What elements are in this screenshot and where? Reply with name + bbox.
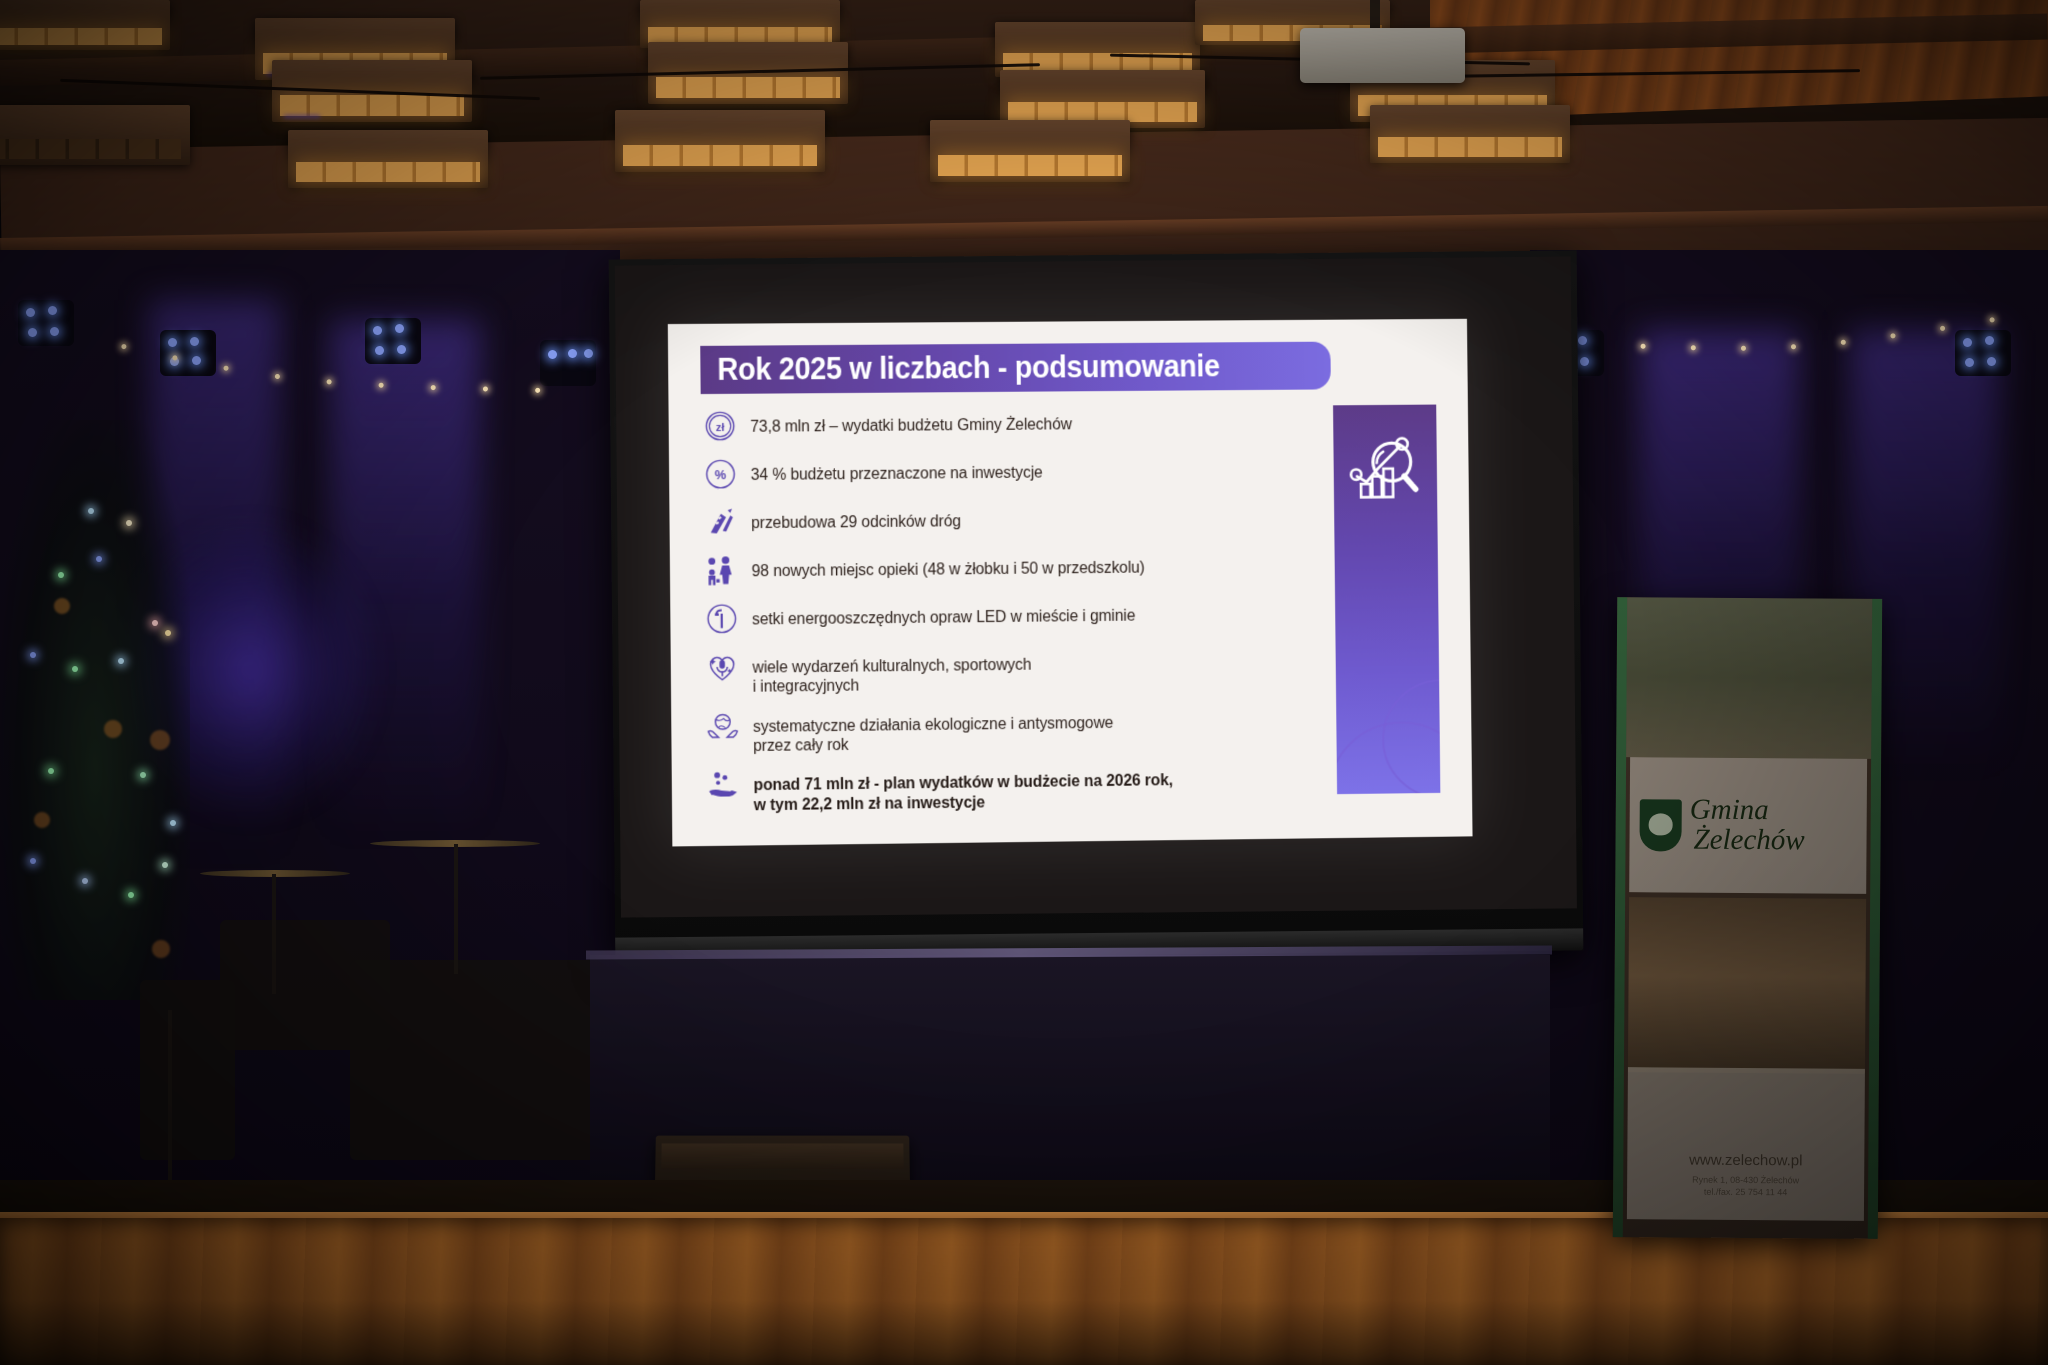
list-item-text: setki energooszczędnych opraw LED w mieś… — [752, 601, 1135, 630]
chart-magnifier-icon — [1347, 431, 1423, 507]
drum-kit — [120, 830, 640, 1160]
auditorium-room: Rok 2025 w liczbach - podsumowanie zł 73… — [0, 0, 2048, 1365]
list-item: systematyczne działania ekologiczne i an… — [705, 705, 1306, 757]
slide-title-bar: Rok 2025 w liczbach - podsumowanie — [700, 342, 1331, 394]
rollup-banner: Gmina Żelechów www.zelechow.pl Rynek 1, … — [1613, 597, 1882, 1239]
zloty-circle-icon: zł — [703, 409, 738, 443]
decorative-circle — [1333, 721, 1440, 794]
screen-surface: Rok 2025 w liczbach - podsumowanie zł 73… — [615, 256, 1577, 917]
banner-address: Rynek 1, 08-430 Żelechów tel./fax. 25 75… — [1692, 1173, 1799, 1198]
ceiling-light-fixture — [288, 130, 488, 188]
list-item: 98 nowych miejsc opieki (48 w żłobku i 5… — [704, 551, 1305, 588]
list-item-text: wiele wydarzeń kulturalnych, sportowych … — [752, 650, 1031, 698]
ceiling-light-fixture — [995, 22, 1200, 77]
street-lamp-icon — [705, 601, 740, 635]
list-item-text: przebudowa 29 odcinków dróg — [751, 506, 961, 533]
ceiling-projector — [1300, 28, 1465, 83]
ceiling-light-fixture — [640, 0, 840, 48]
hands-earth-icon — [705, 709, 740, 744]
banner-town-photo — [1628, 897, 1866, 1074]
ceiling-light-fixture — [930, 120, 1130, 182]
projection-screen: Rok 2025 w liczbach - podsumowanie zł 73… — [609, 250, 1584, 959]
slide-title: Rok 2025 w liczbach - podsumowanie — [700, 348, 1220, 388]
hand-coins-icon — [706, 768, 741, 803]
road-arrow-icon — [704, 505, 739, 539]
svg-text:zł: zł — [716, 422, 725, 434]
banner-name-line1: Gmina — [1690, 796, 1805, 826]
list-item: setki energooszczędnych opraw LED w mieś… — [705, 599, 1306, 636]
list-item: wiele wydarzeń kulturalnych, sportowych … — [705, 647, 1306, 698]
banner-header: Gmina Żelechów — [1629, 757, 1867, 894]
heart-microphone-icon — [705, 650, 740, 685]
swan-coat-of-arms-icon — [1639, 799, 1681, 851]
ceiling-light-fixture — [615, 110, 825, 172]
stage-apron-shadow — [0, 1300, 2048, 1365]
banner-website-url: www.zelechow.pl — [1689, 1151, 1803, 1169]
slide-side-panel — [1333, 405, 1440, 795]
stage-light-pod — [18, 300, 74, 346]
stage-light-pod — [540, 340, 596, 386]
presentation-slide: Rok 2025 w liczbach - podsumowanie zł 73… — [668, 319, 1473, 847]
stage-light-pod — [365, 318, 421, 364]
banner-name-line2: Żelechów — [1689, 825, 1804, 855]
slide-bullet-list: zł 73,8 mln zł – wydatki budżetu Gminy Ż… — [703, 408, 1308, 833]
list-item-text: 34 % budżetu przeznaczone na inwestycje — [751, 458, 1043, 486]
svg-text:%: % — [715, 467, 727, 482]
list-item: % 34 % budżetu przeznaczone na inwestycj… — [703, 455, 1304, 491]
family-care-icon — [704, 553, 739, 587]
ceiling-light-fixture — [0, 105, 190, 165]
ceiling-light-fixture — [0, 0, 170, 50]
stage-light-pod — [1955, 330, 2011, 376]
list-item: zł 73,8 mln zł – wydatki budżetu Gminy Ż… — [703, 408, 1304, 444]
list-item: ponad 71 mln zł - plan wydatków w budżec… — [706, 764, 1307, 816]
list-item-text: 98 nowych miejsc opieki (48 w żłobku i 5… — [751, 553, 1144, 582]
list-item-text: 73,8 mln zł – wydatki budżetu Gminy Żele… — [750, 409, 1072, 437]
ceiling-light-fixture — [1370, 105, 1570, 163]
list-item: przebudowa 29 odcinków dróg — [704, 503, 1305, 539]
list-item-text: ponad 71 mln zł - plan wydatków w budżec… — [753, 765, 1173, 815]
banner-municipality-name: Gmina Żelechów — [1689, 796, 1805, 856]
percent-circle-icon: % — [703, 457, 738, 491]
banner-landscape-photo — [1626, 597, 1872, 759]
list-item-text: systematyczne działania ekologiczne i an… — [753, 707, 1114, 756]
banner-footer: www.zelechow.pl Rynek 1, 08-430 Żelechów… — [1627, 1067, 1865, 1221]
